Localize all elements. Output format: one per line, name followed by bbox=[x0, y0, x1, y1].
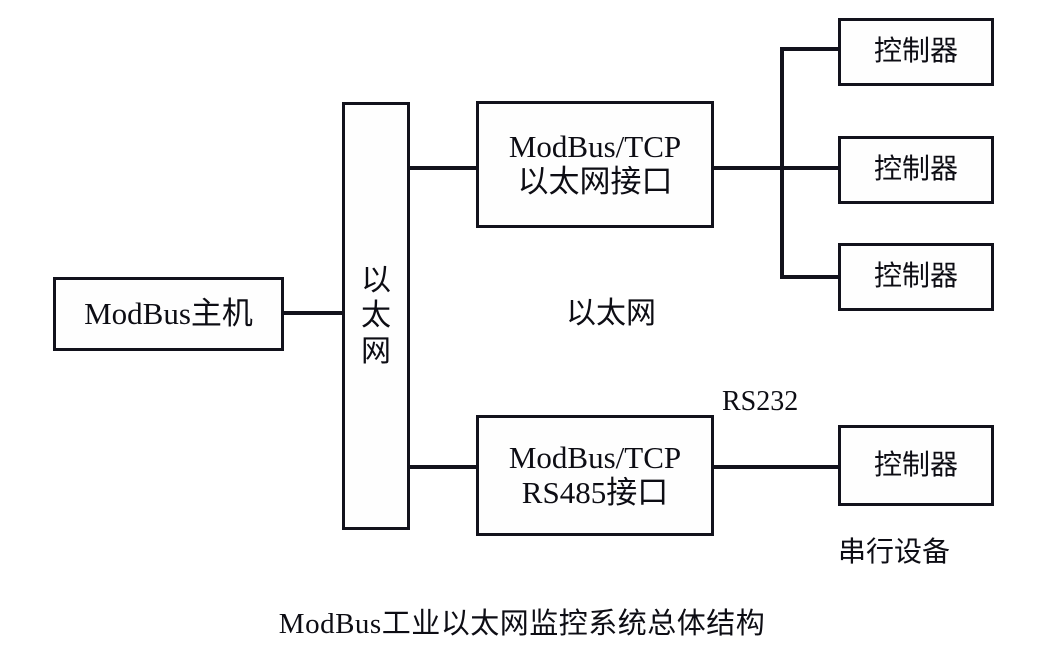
node-controller-2[interactable]: 控制器 bbox=[838, 136, 994, 204]
label-serial-device: 串行设备 bbox=[838, 530, 950, 570]
node-modbus-tcp-rs485-interface-line1: ModBus/TCP bbox=[509, 441, 681, 476]
node-controller-1-label: 控制器 bbox=[874, 36, 958, 67]
diagram-canvas: ModBus主机 以 太 网 ModBus/TCP 以太网接口 ModBus/T… bbox=[0, 0, 1044, 658]
node-modbus-tcp-ethernet-interface[interactable]: ModBus/TCP 以太网接口 bbox=[476, 101, 714, 228]
node-controller-serial[interactable]: 控制器 bbox=[838, 425, 994, 506]
node-modbus-tcp-rs485-interface-line2: RS485接口 bbox=[522, 476, 668, 511]
node-controller-1[interactable]: 控制器 bbox=[838, 18, 994, 86]
diagram-caption: ModBus工业以太网监控系统总体结构 bbox=[0, 600, 1044, 642]
node-ethernet-bus-char-2: 太 bbox=[361, 298, 391, 333]
connector-tcp-interface-to-bus bbox=[712, 166, 784, 170]
node-ethernet-bus-char-1: 以 bbox=[361, 263, 391, 298]
node-modbus-host[interactable]: ModBus主机 bbox=[53, 277, 284, 351]
connector-bus-to-controller-3 bbox=[780, 275, 840, 279]
node-ethernet-bus[interactable]: 以 太 网 bbox=[342, 102, 410, 530]
controller-bus-trunk bbox=[780, 47, 784, 279]
label-rs232: RS232 bbox=[722, 386, 798, 418]
connector-ethernet-to-rs485-interface bbox=[408, 465, 478, 469]
node-controller-serial-label: 控制器 bbox=[874, 450, 958, 481]
node-modbus-tcp-ethernet-interface-line1: ModBus/TCP bbox=[509, 130, 681, 165]
node-controller-3[interactable]: 控制器 bbox=[838, 243, 994, 311]
node-controller-3-label: 控制器 bbox=[874, 261, 958, 292]
label-ethernet-network: 以太网 bbox=[566, 288, 656, 332]
connector-bus-to-controller-1 bbox=[780, 47, 840, 51]
connector-rs485-to-serial-controller bbox=[712, 465, 840, 469]
connector-ethernet-to-tcp-interface bbox=[408, 166, 478, 170]
node-controller-2-label: 控制器 bbox=[874, 154, 958, 185]
node-modbus-tcp-rs485-interface[interactable]: ModBus/TCP RS485接口 bbox=[476, 415, 714, 536]
node-ethernet-bus-char-3: 网 bbox=[361, 334, 391, 369]
node-ethernet-bus-vertical-label: 以 太 网 bbox=[345, 105, 407, 527]
node-modbus-host-label: ModBus主机 bbox=[84, 297, 253, 332]
node-modbus-tcp-ethernet-interface-line2: 以太网接口 bbox=[518, 165, 673, 200]
connector-bus-to-controller-2 bbox=[780, 166, 840, 170]
connector-host-to-ethernet bbox=[283, 311, 344, 315]
